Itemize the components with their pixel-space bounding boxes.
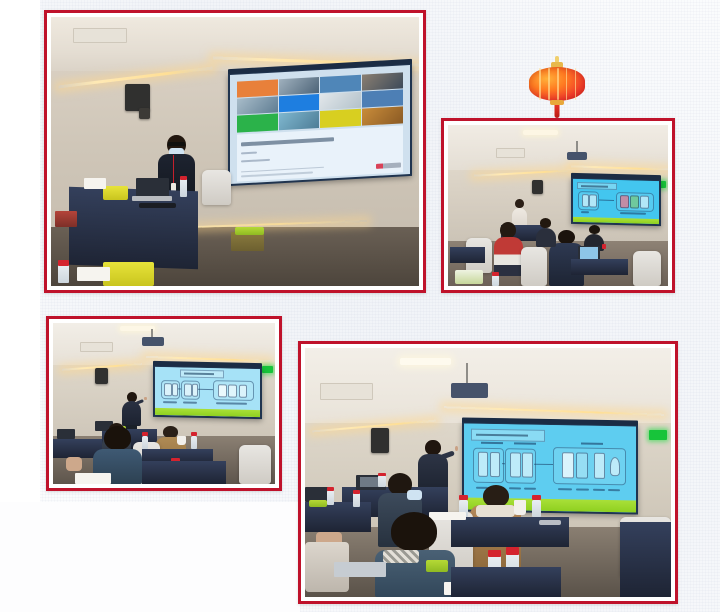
photo-bottom-left	[53, 323, 275, 484]
slide-tile	[278, 111, 319, 130]
flow-caption	[183, 402, 197, 404]
photo-frame-bottom-right[interactable]	[298, 341, 678, 604]
attendee	[494, 222, 523, 277]
exit-sign	[649, 430, 667, 440]
flow-node	[582, 195, 589, 207]
chair	[633, 251, 662, 286]
flow-arrow	[198, 390, 213, 391]
flow-caption	[524, 487, 536, 489]
foreground-bottle-cap	[488, 550, 501, 557]
ceiling-light	[400, 358, 451, 365]
lantern-rib	[575, 68, 577, 99]
attendee-head	[483, 485, 509, 507]
photo-frame-bottom-left[interactable]	[46, 316, 282, 491]
laptop-lid	[136, 178, 169, 197]
remote-control	[139, 203, 176, 208]
green-box	[455, 270, 484, 284]
lantern-rib	[548, 68, 550, 99]
slide-tile	[320, 74, 361, 93]
flow-arrow	[599, 200, 615, 201]
background-bottom-strip	[0, 502, 300, 612]
slide-tile	[237, 114, 278, 133]
green-box	[426, 560, 448, 572]
foreground-bottle	[58, 264, 69, 283]
flow-node	[640, 196, 649, 208]
chair	[202, 170, 231, 205]
collage-canvas	[0, 0, 720, 612]
ceiling	[448, 125, 668, 173]
bottle-cap	[492, 272, 499, 275]
flow-caption	[576, 488, 590, 490]
slide-tile	[320, 92, 361, 111]
coffee-cup	[514, 500, 527, 515]
flow-caption	[609, 488, 621, 490]
slide-title-box	[471, 428, 545, 441]
photo-frame-top-left[interactable]	[44, 10, 426, 293]
flow-group-label	[514, 442, 536, 444]
green-box	[309, 500, 327, 507]
water-bottle	[180, 178, 187, 197]
projection-screen	[153, 365, 262, 419]
face-mask	[407, 490, 422, 500]
water-bottle	[532, 500, 541, 517]
attendee-collar	[383, 550, 419, 564]
slide-tile	[237, 79, 278, 98]
flow-node	[184, 384, 191, 397]
presenter-head	[515, 199, 523, 208]
lantern-body-icon	[529, 67, 585, 101]
presenter-lanyard	[173, 155, 174, 183]
flow-node	[218, 384, 227, 397]
flow-node	[172, 384, 178, 397]
bottle-cap	[327, 487, 334, 491]
flow-group-label	[482, 441, 504, 443]
foreground-table	[142, 461, 226, 484]
flow-node	[595, 453, 606, 478]
process-flow-slide	[573, 179, 659, 224]
foreground-bottle-cap	[506, 547, 519, 554]
yellow-box	[103, 186, 129, 199]
slide-title-box	[180, 370, 224, 378]
flow-node	[478, 452, 489, 476]
slide-tile	[362, 72, 403, 91]
slide-tile	[362, 89, 403, 108]
foreground-table	[451, 567, 561, 597]
glasses-on-table	[539, 520, 561, 525]
flow-arrow	[502, 462, 505, 463]
flow-group-label	[581, 442, 603, 444]
water-bottle	[191, 436, 198, 449]
flow-node	[239, 385, 247, 398]
flow-caption	[593, 488, 605, 490]
projector-mount	[466, 363, 468, 385]
cardboard-box	[231, 232, 264, 251]
water-bottle	[492, 275, 499, 286]
slide-tile	[278, 77, 319, 96]
laptop-base	[132, 196, 172, 201]
laptop-lid	[57, 429, 75, 439]
wall-speaker	[95, 368, 108, 384]
projection-screen	[228, 63, 412, 186]
ceiling-vent	[73, 28, 127, 43]
chair	[521, 247, 547, 286]
attendee-table	[620, 522, 671, 597]
green-box	[235, 227, 264, 235]
bottle-cap	[532, 495, 541, 500]
slide-tile	[237, 96, 278, 115]
foreground-yellow-box	[103, 262, 155, 286]
attendee-torso	[536, 228, 556, 248]
flow-node	[562, 452, 574, 477]
water-bottle	[327, 490, 334, 505]
bottle-cap	[142, 432, 149, 435]
attendee-torso	[494, 237, 523, 276]
photo-top-right	[448, 125, 668, 286]
slide-title-box	[577, 182, 617, 190]
attendee-head	[540, 218, 551, 228]
slide-surface	[230, 65, 410, 184]
attendee-head	[391, 512, 438, 551]
ceiling-light	[523, 130, 558, 135]
flow-caption	[163, 402, 177, 404]
bottle-cap	[191, 432, 198, 435]
flow-node	[630, 196, 639, 208]
lantern-rib	[566, 68, 568, 99]
ceiling-vent	[320, 383, 373, 400]
flow-node	[192, 384, 198, 397]
attendee-foreground	[375, 512, 456, 597]
bottle-cap	[180, 176, 187, 180]
attendee-head	[500, 222, 516, 238]
bottle-cap	[353, 490, 360, 494]
flow-node	[228, 385, 236, 398]
attendee-head	[558, 230, 575, 245]
presenter-glasses	[168, 142, 185, 146]
flow-caption	[216, 403, 247, 406]
slide-tile	[320, 109, 361, 128]
slide-tile	[362, 107, 403, 126]
water-bottle	[142, 436, 149, 449]
flow-node	[621, 196, 630, 208]
speaker-bracket	[139, 108, 150, 119]
lantern-tassel-icon	[555, 105, 560, 118]
chair	[239, 445, 270, 484]
wall-speaker	[125, 84, 151, 111]
flow-node	[576, 453, 588, 478]
laptop-screen	[580, 247, 598, 258]
foreground-paper	[77, 267, 110, 280]
flow-node	[523, 452, 534, 476]
attendee-hand	[66, 457, 82, 471]
flow-caption	[581, 211, 589, 213]
flow-node	[164, 384, 171, 397]
notebook	[75, 473, 111, 484]
projector	[567, 152, 587, 160]
flow-node	[490, 452, 501, 476]
foreground-bottle-cap	[58, 260, 69, 265]
attendee-head	[163, 426, 178, 438]
slide-surface	[573, 179, 659, 224]
process-flow-slide	[155, 367, 260, 417]
presenter-head	[425, 440, 440, 455]
flow-node	[511, 452, 522, 476]
slide-tile-grid	[237, 72, 403, 132]
attendee-head	[104, 426, 131, 450]
projector	[142, 337, 164, 345]
coffee-cup	[177, 436, 186, 446]
ceiling-vent	[496, 148, 524, 158]
photo-top-left	[51, 17, 419, 286]
slide-tile	[278, 94, 319, 113]
slide-footer-band	[573, 217, 659, 224]
projector	[451, 383, 488, 398]
attendee	[536, 218, 556, 247]
slide-text-area	[237, 125, 403, 181]
water-bottle	[353, 492, 360, 507]
attendee-head	[589, 225, 600, 234]
lantern-rib	[539, 68, 541, 99]
photo-frame-top-right[interactable]	[441, 118, 675, 293]
flow-node	[590, 195, 597, 207]
attendee-table	[450, 247, 485, 263]
bottle-cap	[602, 244, 606, 249]
presenter-hand	[144, 397, 146, 401]
floor-box	[55, 211, 77, 227]
exit-sign	[262, 366, 273, 372]
lantern-decoration	[529, 56, 585, 120]
wall-speaker	[532, 180, 543, 194]
lantern-rib	[557, 68, 559, 99]
attendee-table	[571, 259, 628, 275]
flow-arrow	[535, 463, 554, 464]
ceiling-vent	[80, 342, 113, 352]
bottle-cap	[459, 495, 468, 500]
projection-screen	[571, 177, 661, 226]
attendee-scarf	[476, 505, 515, 517]
paper-sheet	[84, 178, 106, 189]
slide-footer-band	[155, 408, 260, 417]
slide-surface	[155, 367, 260, 417]
flow-caption	[559, 487, 573, 489]
flow-caption	[621, 212, 647, 215]
laptop-foreground	[334, 562, 385, 577]
photo-bottom-right	[305, 348, 671, 597]
wall-speaker	[371, 428, 389, 453]
